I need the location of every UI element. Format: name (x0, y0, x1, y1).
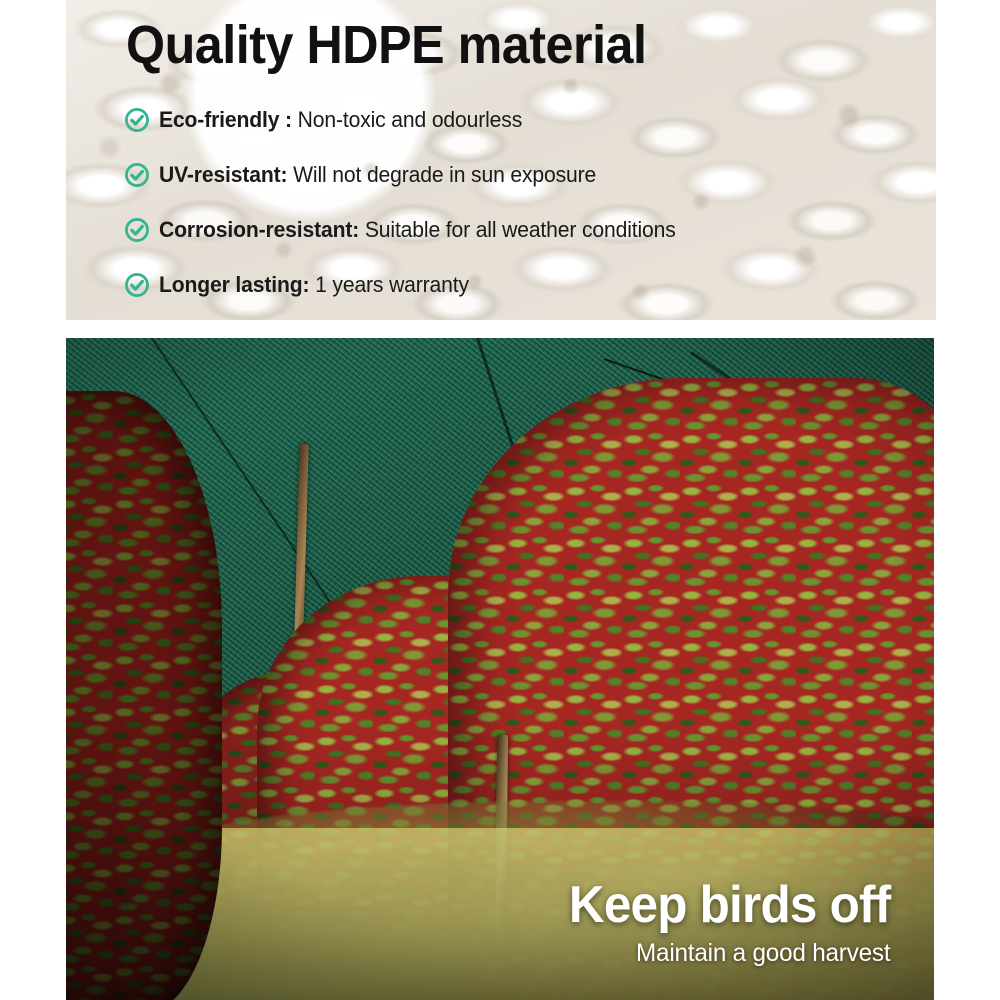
feature-description: Suitable for all weather conditions (359, 217, 675, 242)
orchard-photo-panel: Keep birds off Maintain a good harvest (66, 338, 934, 1000)
list-item: Longer lasting: 1 years warranty (124, 257, 924, 312)
feature-description: 1 years warranty (309, 272, 469, 297)
top-panel-content: Quality HDPE material Eco-friendly : Non… (66, 0, 936, 320)
check-circle-icon (124, 107, 150, 133)
photo-caption-headline: Keep birds off (569, 879, 890, 932)
feature-label: Corrosion-resistant: (159, 217, 359, 242)
check-circle-icon (124, 217, 150, 243)
product-feature-page: Quality HDPE material Eco-friendly : Non… (0, 0, 1000, 1000)
list-item-text: Corrosion-resistant: Suitable for all we… (159, 217, 676, 243)
list-item-text: Longer lasting: 1 years warranty (159, 272, 469, 298)
list-item: UV-resistant: Will not degrade in sun ex… (124, 147, 924, 202)
photo-caption-subtext: Maintain a good harvest (562, 939, 890, 968)
foreground-branch (66, 391, 222, 1000)
photo-caption-block: Keep birds off Maintain a good harvest (552, 879, 890, 968)
hdpe-material-panel: Quality HDPE material Eco-friendly : Non… (66, 0, 936, 320)
list-item: Corrosion-resistant: Suitable for all we… (124, 202, 924, 257)
feature-label: Eco-friendly : (159, 107, 292, 132)
feature-label: Longer lasting: (159, 272, 309, 297)
feature-label: UV-resistant: (159, 162, 287, 187)
list-item: Eco-friendly : Non-toxic and odourless (124, 92, 924, 147)
list-item-text: UV-resistant: Will not degrade in sun ex… (159, 162, 596, 188)
page-title: Quality HDPE material (126, 16, 647, 74)
list-item-text: Eco-friendly : Non-toxic and odourless (159, 107, 522, 133)
feature-description: Will not degrade in sun exposure (287, 162, 596, 187)
check-circle-icon (124, 162, 150, 188)
feature-description: Non-toxic and odourless (292, 107, 522, 132)
feature-list: Eco-friendly : Non-toxic and odourless U… (124, 92, 924, 312)
check-circle-icon (124, 272, 150, 298)
panel-divider (0, 320, 1000, 338)
